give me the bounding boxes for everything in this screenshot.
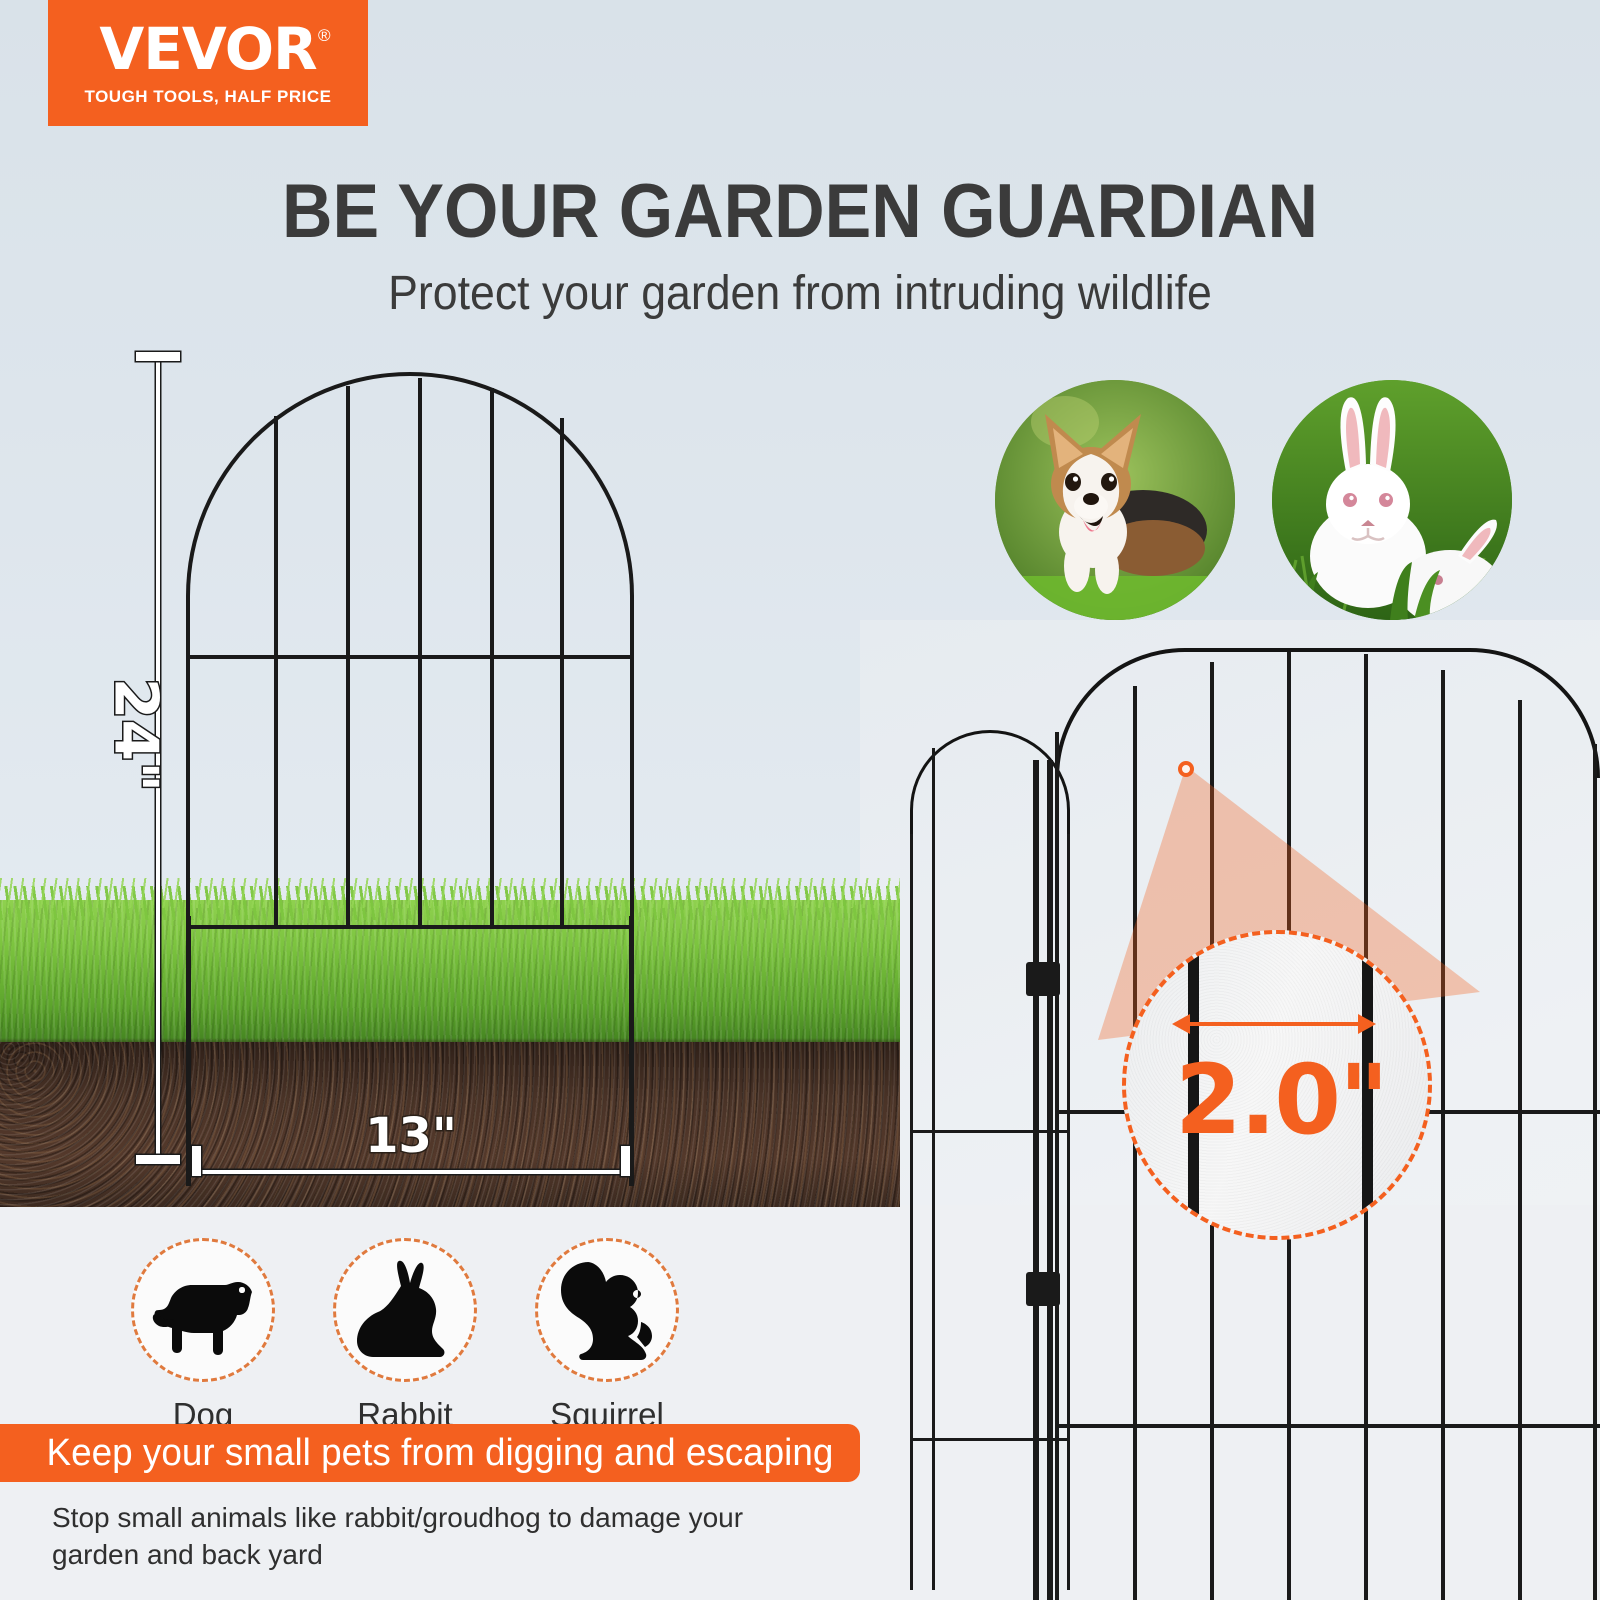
animal-item-dog: Dog xyxy=(128,1238,278,1434)
squirrel-icon-circle xyxy=(535,1238,679,1382)
fence-bar xyxy=(418,378,422,929)
fence-rail xyxy=(186,655,634,659)
rabbit-silhouette-icon xyxy=(357,1260,453,1360)
footer-banner: Keep your small pets from digging and es… xyxy=(0,1424,860,1482)
measurement-marker-icon xyxy=(1178,761,1194,777)
rabbit-icon-circle xyxy=(333,1238,477,1382)
vevor-logo: VEVOR TOUGH TOOLS, HALF PRICE xyxy=(48,0,368,126)
fence-bar xyxy=(560,418,564,929)
height-dimension-label: 24" xyxy=(100,678,170,793)
page-headline: BE YOUR GARDEN GUARDIAN xyxy=(64,168,1536,255)
width-dimension-line xyxy=(194,1170,628,1174)
fence-bar xyxy=(932,748,935,1590)
logo-wordmark: VEVOR xyxy=(99,20,316,78)
fence-connector-post xyxy=(1033,760,1039,1600)
fence-arch-top xyxy=(186,372,634,662)
infographic-canvas: VEVOR TOUGH TOOLS, HALF PRICE ® BE YOUR … xyxy=(0,0,1600,1600)
fence-bar xyxy=(1518,700,1522,1600)
fence-connector-clip xyxy=(1026,962,1060,996)
fence-panel-body xyxy=(186,657,634,929)
rabbits-illustration xyxy=(1272,380,1512,620)
fence-rail xyxy=(910,1438,1070,1441)
fence-bar xyxy=(1441,670,1445,1600)
rabbit-photo xyxy=(1272,380,1512,620)
logo-tagline: TOUGH TOOLS, HALF PRICE xyxy=(85,87,332,107)
fence-connector-clip xyxy=(1026,1272,1060,1306)
footer-body-text: Stop small animals like rabbit/groudhog … xyxy=(52,1500,812,1574)
gap-dimension-label: 2.0" xyxy=(1126,1052,1432,1148)
corgi-illustration xyxy=(995,380,1235,620)
height-dimension-cap-top xyxy=(136,352,180,361)
fence-rail xyxy=(1055,1424,1600,1428)
width-dimension-label: 13" xyxy=(0,1108,822,1164)
gap-measure-arrow-icon xyxy=(1188,1022,1360,1026)
fence-bar xyxy=(1055,732,1059,1600)
dog-silhouette-icon xyxy=(148,1264,258,1356)
width-dimension-cap-right xyxy=(621,1146,630,1176)
animal-item-rabbit: Rabbit xyxy=(330,1238,480,1434)
fence-panel-left xyxy=(186,372,634,932)
fence-connector-post xyxy=(1047,760,1053,1600)
dog-icon-circle xyxy=(131,1238,275,1382)
fence-rail xyxy=(910,1130,1070,1133)
fence-bar xyxy=(274,416,278,929)
fence-rail xyxy=(186,925,634,929)
dog-photo xyxy=(995,380,1235,620)
page-subheadline: Protect your garden from intruding wildl… xyxy=(56,266,1544,321)
squirrel-silhouette-icon xyxy=(555,1260,659,1360)
footer-banner-text: Keep your small pets from digging and es… xyxy=(0,1432,833,1475)
width-dimension-cap-left xyxy=(192,1146,201,1176)
registered-trademark-icon: ® xyxy=(318,26,331,46)
gap-magnifier-circle: 2.0" xyxy=(1122,930,1432,1240)
fence-bar xyxy=(1593,744,1597,1600)
fence-panel-right-back xyxy=(910,730,1070,1590)
animal-item-squirrel: Squirrel xyxy=(532,1238,682,1434)
fence-bar xyxy=(910,834,913,1590)
